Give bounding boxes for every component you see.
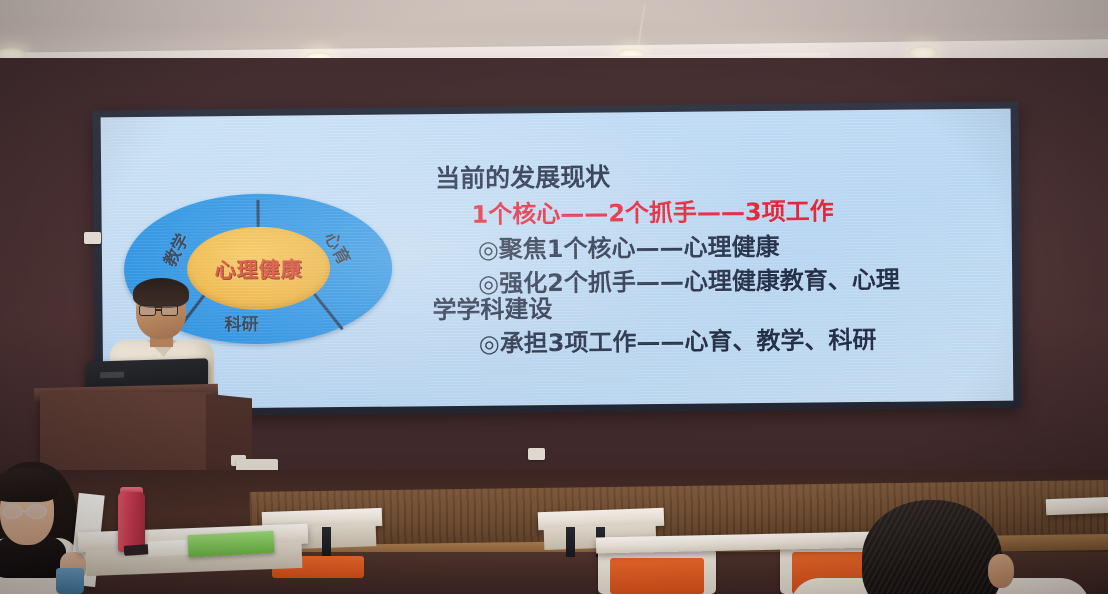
wall-outlet-left[interactable]	[84, 232, 101, 244]
laptop-logo	[100, 372, 124, 379]
led-screen: 教学 心育 科研 心理健康 当前的发展现状 1个核心——2个抓手——3项工作 ◎…	[101, 109, 1014, 410]
pink-thermos[interactable]	[118, 492, 145, 552]
slide-bullet-2-wrap: 学学科建设	[432, 293, 997, 322]
slide-bullet-2: ◎强化2个抓手——心理健康教育、心理	[478, 267, 997, 296]
seated-woman-glasses-left	[2, 504, 23, 519]
slide-highlight-line: 1个核心——2个抓手——3项工作	[471, 198, 996, 227]
presenter-hair	[133, 278, 189, 308]
slide-text-block: 当前的发展现状 1个核心——2个抓手——3项工作 ◎聚焦1个核心——心理健康 ◎…	[431, 161, 998, 356]
desk-far-right	[1046, 497, 1108, 515]
lecture-hall-photo: 教学 心育 科研 心理健康 当前的发展现状 1个核心——2个抓手——3项工作 ◎…	[0, 0, 1108, 594]
slide-bullet-1: ◎聚焦1个核心——心理健康	[478, 233, 997, 262]
presenter-glasses-left	[139, 305, 156, 316]
seated-woman-glasses-bridge	[23, 510, 27, 512]
phone-on-desk[interactable]	[124, 544, 151, 556]
seated-woman-hair-front	[0, 468, 58, 502]
donut-segment-label-bottom: 科研	[224, 310, 258, 335]
seated-woman-glasses-right	[26, 504, 47, 519]
presenter-glasses-right	[161, 305, 178, 316]
blue-cup[interactable]	[56, 568, 84, 594]
chair-front-1-pad[interactable]	[610, 558, 704, 594]
led-screen-bezel: 教学 心育 科研 心理健康 当前的发展现状 1个核心——2个抓手——3项工作 ◎…	[93, 102, 1022, 417]
green-notebook[interactable]	[187, 531, 274, 557]
desk-right-mid-leg-1	[566, 527, 575, 557]
presenter-glasses-bridge	[156, 309, 162, 311]
foreground-man-ear	[988, 554, 1014, 588]
donut-center-label: 心理健康	[214, 253, 302, 284]
slide-bullet-3: ◎承担3项工作——心育、教学、科研	[479, 327, 998, 356]
wall-outlet-right[interactable]	[528, 448, 545, 460]
desk-left-mid-leg-2	[322, 527, 331, 557]
slide-title: 当前的发展现状	[435, 161, 996, 191]
